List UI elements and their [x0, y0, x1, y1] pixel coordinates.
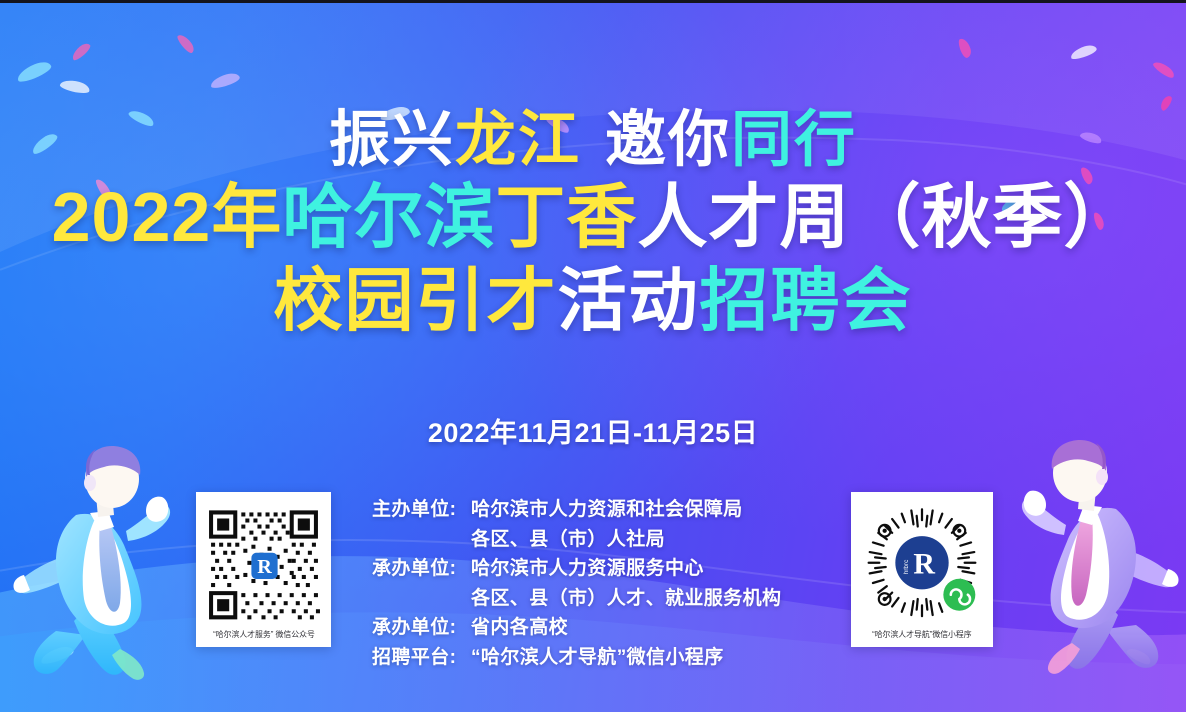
organizer-info-label: 主办单位: — [372, 495, 471, 525]
headline-line-2: 2022年哈尔滨丁香人才周（秋季） — [0, 178, 1186, 256]
headline-segment: 同行 — [731, 105, 857, 173]
event-date-row: 2022年11月21日-11月25日 — [0, 411, 1186, 450]
headline-segment: 人才周（秋季） — [637, 178, 1134, 256]
poster-headline: 振兴龙江邀你同行 2022年哈尔滨丁香人才周（秋季） 校园引才活动招聘会 — [0, 107, 1186, 339]
event-date: 2022年11月21日-11月25日 — [428, 418, 758, 448]
organizer-info-row: 承办单位:哈尔滨市人力资源服务中心 — [372, 554, 781, 584]
headline-segment: 招聘会 — [700, 262, 913, 339]
organizer-info-value: 哈尔滨市人力资源服务中心 — [471, 554, 704, 584]
confetti-ribbon — [1125, 645, 1153, 667]
wechat-official-account-qr-icon: R — [203, 500, 324, 630]
headline-line-3: 校园引才活动招聘会 — [0, 262, 1186, 339]
headline-segment: 2022年 — [52, 178, 283, 256]
organizer-info-row: 承办单位:省内各高校 — [372, 613, 781, 643]
running-businessman-right-illustration — [966, 427, 1180, 685]
organizer-info-label: 招聘平台: — [372, 643, 471, 673]
confetti-ribbon — [176, 32, 197, 55]
qr-card-mini-program[interactable]: R hrbrc “哈尔滨人才导航”微信小程序 — [851, 492, 993, 647]
svg-text:hrbrc: hrbrc — [903, 559, 910, 574]
qr-right-caption: “哈尔滨人才导航”微信小程序 — [872, 630, 972, 644]
organizer-info-value: 各区、县（市）人社局 — [471, 525, 665, 555]
organizer-info-value: 省内各高校 — [471, 613, 568, 643]
organizer-info-block: 主办单位:哈尔滨市人力资源和社会保障局主办单位:各区、县（市）人社局承办单位:哈… — [372, 495, 781, 672]
confetti-ribbon — [15, 59, 53, 85]
organizer-info-row: 承办单位:各区、县（市）人才、就业服务机构 — [372, 584, 781, 614]
confetti-ribbon — [70, 41, 93, 62]
confetti-ribbon — [1152, 59, 1177, 80]
svg-text:R: R — [913, 547, 935, 580]
figure-right-svg — [966, 427, 1180, 685]
organizer-info-value: “哈尔滨人才导航”微信小程序 — [471, 643, 724, 673]
qr-left-caption: “哈尔滨人才服务” 微信公众号 — [213, 630, 315, 644]
organizer-info-row: 主办单位:哈尔滨市人力资源和社会保障局 — [372, 495, 781, 525]
confetti-ribbon — [209, 71, 241, 90]
organizer-info-label: 承办单位: — [372, 554, 471, 584]
organizer-info-label: 承办单位: — [372, 613, 471, 643]
confetti-ribbon — [39, 644, 75, 666]
organizer-info-row: 招聘平台:“哈尔滨人才导航”微信小程序 — [372, 643, 781, 673]
confetti-ribbon — [1069, 43, 1098, 61]
headline-segment: 丁香 — [495, 178, 637, 256]
confetti-ribbon — [957, 37, 973, 59]
qr-card-official-account[interactable]: R “哈尔滨人才服务” 微信公众号 — [196, 492, 331, 647]
headline-segment: 哈尔滨 — [282, 178, 495, 256]
running-businessman-left-illustration — [12, 435, 222, 687]
headline-segment: 龙江 — [455, 105, 581, 173]
organizer-info-value: 各区、县（市）人才、就业服务机构 — [471, 584, 781, 614]
figure-left-svg — [12, 435, 222, 687]
confetti-ribbon — [59, 78, 91, 96]
headline-segment: 邀你 — [605, 105, 731, 173]
headline-segment: 活动 — [558, 262, 700, 339]
svg-text:R: R — [257, 556, 272, 578]
wechat-mini-program-qr-icon: R hrbrc — [858, 500, 986, 630]
headline-line-1: 振兴龙江邀你同行 — [0, 107, 1186, 172]
headline-segment: 校园引才 — [274, 262, 558, 339]
recruitment-poster: 振兴龙江邀你同行 2022年哈尔滨丁香人才周（秋季） 校园引才活动招聘会 202… — [0, 0, 1186, 712]
organizer-info-row: 主办单位:各区、县（市）人社局 — [372, 525, 781, 555]
organizer-info-value: 哈尔滨市人力资源和社会保障局 — [471, 495, 743, 525]
headline-segment: 振兴 — [329, 105, 455, 173]
